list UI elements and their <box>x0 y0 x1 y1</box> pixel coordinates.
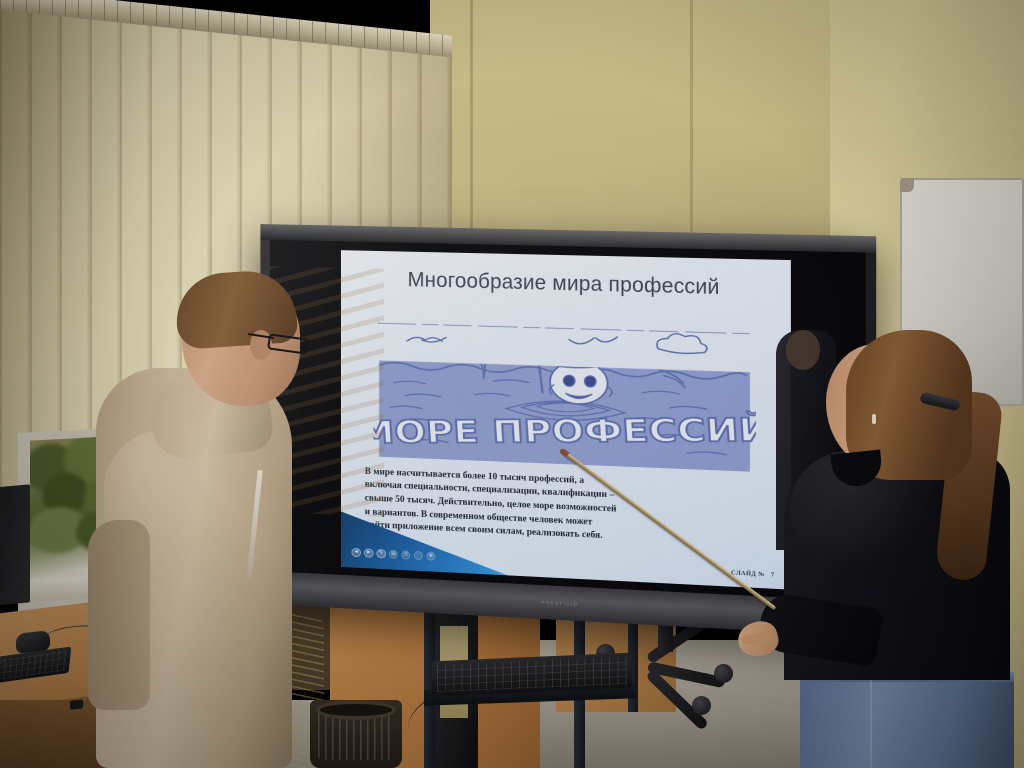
slide-number-value: 7 <box>771 571 775 578</box>
student-left-sleeve <box>88 520 150 710</box>
wall-upper <box>430 0 830 245</box>
more-options-icon[interactable]: ⋯ <box>414 551 423 561</box>
classroom-photo: Многообразие мира профессий <box>0 0 1024 768</box>
earring-icon <box>872 414 876 424</box>
pen-icon[interactable]: ✎ <box>376 549 385 559</box>
student-right-jeans-seam <box>870 676 872 768</box>
powerpoint-slide[interactable]: Многообразие мира профессий <box>341 250 791 589</box>
display-brand-logo: PRESTIGIO <box>542 600 579 607</box>
laser-pointer-icon[interactable]: ◉ <box>426 551 435 561</box>
slide-body-text: В мире насчитывается более 10 тысяч проф… <box>365 464 772 551</box>
whiteboard-corner-bracket <box>900 178 914 192</box>
student-right-jeans <box>800 676 1014 768</box>
cartoon-caption-text: МОРЕ ПРОФЕССИЙ <box>373 412 755 452</box>
wastebasket-rim <box>316 700 396 720</box>
next-slide-icon[interactable]: ► <box>364 548 373 558</box>
zoom-icon[interactable]: ⊞ <box>401 550 410 560</box>
usb-stick <box>70 699 83 709</box>
slide-grid-icon[interactable]: ▦ <box>389 549 398 559</box>
previous-slide-icon[interactable]: ◄ <box>352 548 361 558</box>
wall-seam-secondary <box>690 0 693 240</box>
wall-seam <box>470 0 473 245</box>
background-person-head <box>786 330 820 370</box>
computer-monitor <box>0 484 30 605</box>
slide-number-indicator: СЛАЙД № 7 <box>731 569 774 578</box>
slide-title: Многообразие мира профессий <box>341 267 791 302</box>
